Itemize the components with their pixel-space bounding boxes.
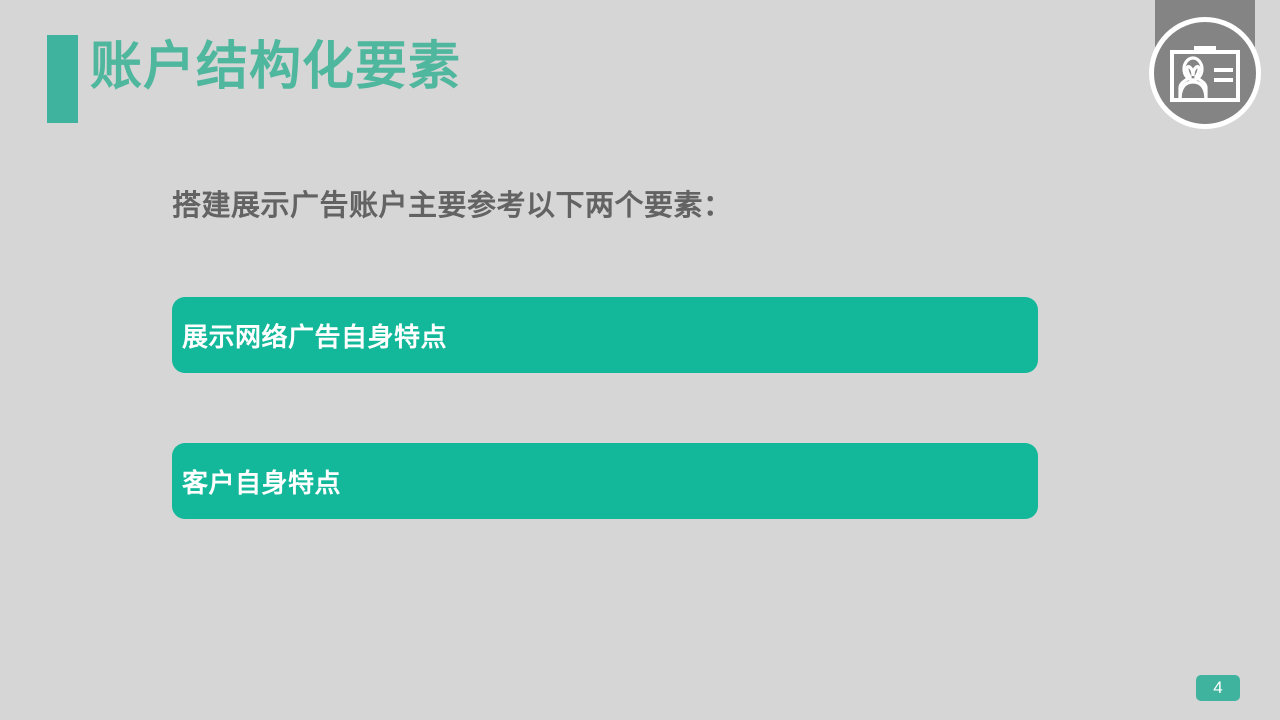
slide-canvas: 账户结构化要素 搭建展示广告账户主要参考以下两个要素： 展示网络广告自身特点 <box>0 0 1280 720</box>
corner-icon-container <box>1155 0 1255 96</box>
page-number-badge: 4 <box>1196 675 1240 701</box>
factor-box[interactable]: 客户自身特点 <box>172 443 1038 519</box>
factor-box[interactable]: 展示网络广告自身特点 <box>172 297 1038 373</box>
factor-label: 客户自身特点 <box>172 463 341 500</box>
page-title: 账户结构化要素 <box>90 38 461 98</box>
factor-label: 展示网络广告自身特点 <box>172 317 447 354</box>
title-accent-bar <box>47 35 78 123</box>
page-number-text: 4 <box>1213 678 1222 698</box>
id-badge-icon <box>1149 17 1261 129</box>
slide-subtitle: 搭建展示广告账户主要参考以下两个要素： <box>172 182 733 224</box>
